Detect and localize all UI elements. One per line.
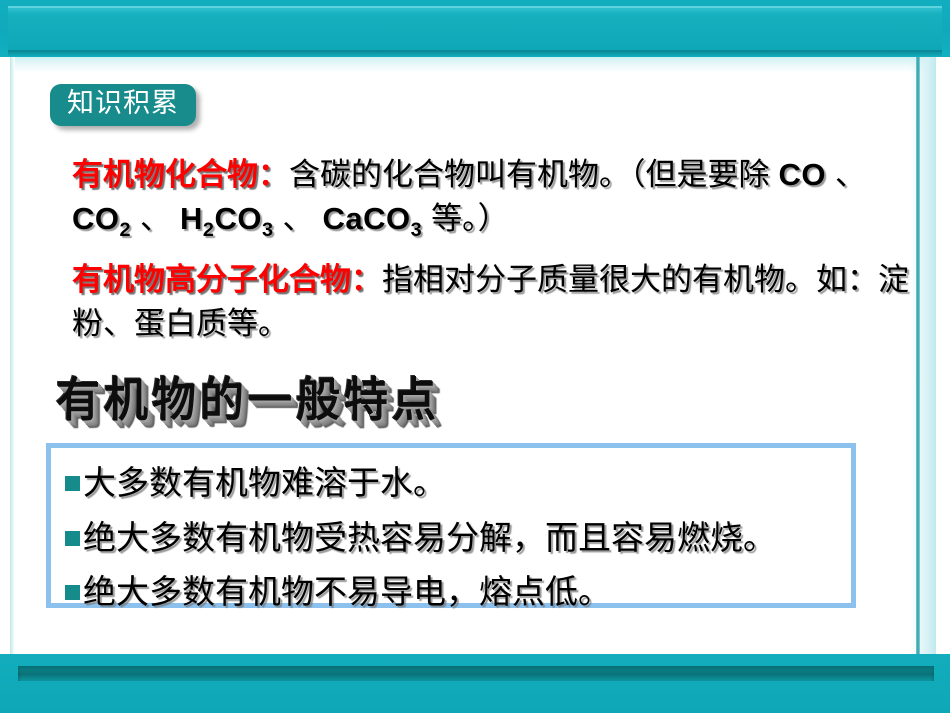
definition-term-2: 有机物高分子化合物： — [72, 262, 382, 298]
definition-paragraph-2: 有机物高分子化合物：指相对分子质量很大的有机物。如：淀粉、蛋白质等。 — [72, 258, 912, 346]
formula-separator-1: 、 — [835, 157, 866, 193]
list-item: 绝大多数有机物不易导电，熔点低。 — [65, 567, 837, 617]
bottom-banner — [0, 654, 950, 713]
top-banner-shadow — [8, 50, 942, 57]
panel-top-tint — [14, 57, 936, 73]
formula-separator-3: 、 — [282, 201, 313, 237]
wordart-heading: 有机物的一般特点 — [56, 362, 440, 430]
definition-block-1: 有机物化合物：含碳的化合物叫有机物。（但是要除CO、CO2、H2CO3、CaCO… — [72, 153, 912, 241]
definition-block-2: 有机物高分子化合物：指相对分子质量很大的有机物。如：淀粉、蛋白质等。 — [72, 258, 912, 346]
bullet-text-2: 绝大多数有机物受热容易分解，而且容易燃烧。 — [83, 513, 776, 563]
square-bullet-icon — [65, 531, 80, 546]
panel-right-edge — [916, 57, 920, 658]
square-bullet-icon — [65, 476, 80, 491]
formula-co: CO — [779, 157, 827, 192]
characteristics-box: 大多数有机物难溶于水。 绝大多数有机物受热容易分解，而且容易燃烧。 绝大多数有机… — [46, 443, 856, 608]
list-item: 大多数有机物难溶于水。 — [65, 458, 837, 508]
bullet-text-3: 绝大多数有机物不易导电，熔点低。 — [83, 567, 611, 617]
section-tag: 知识积累 — [50, 84, 196, 126]
definition-body-1: 含碳的化合物叫有机物。（但是要除 — [289, 157, 770, 193]
list-item: 绝大多数有机物受热容易分解，而且容易燃烧。 — [65, 513, 837, 563]
panel-left-edge — [10, 57, 15, 658]
definition-body-1-after: 等。） — [431, 201, 509, 237]
formula-h2co3: H2CO3 — [180, 201, 273, 236]
square-bullet-icon — [65, 585, 80, 600]
formula-separator-2: 、 — [140, 201, 171, 237]
bullet-text-1: 大多数有机物难溶于水。 — [83, 458, 446, 508]
formula-caco3: CaCO3 — [322, 201, 422, 236]
top-banner-highlight — [8, 6, 942, 52]
formula-co2: CO2 — [72, 201, 131, 236]
panel-right-tint — [910, 57, 936, 654]
bottom-banner-inset — [18, 666, 934, 681]
definition-paragraph-1: 有机物化合物：含碳的化合物叫有机物。（但是要除CO、CO2、H2CO3、CaCO… — [72, 153, 912, 241]
presentation-slide: 知识积累 有机物化合物：含碳的化合物叫有机物。（但是要除CO、CO2、H2CO3… — [0, 0, 950, 713]
definition-term-1: 有机物化合物： — [72, 157, 289, 193]
